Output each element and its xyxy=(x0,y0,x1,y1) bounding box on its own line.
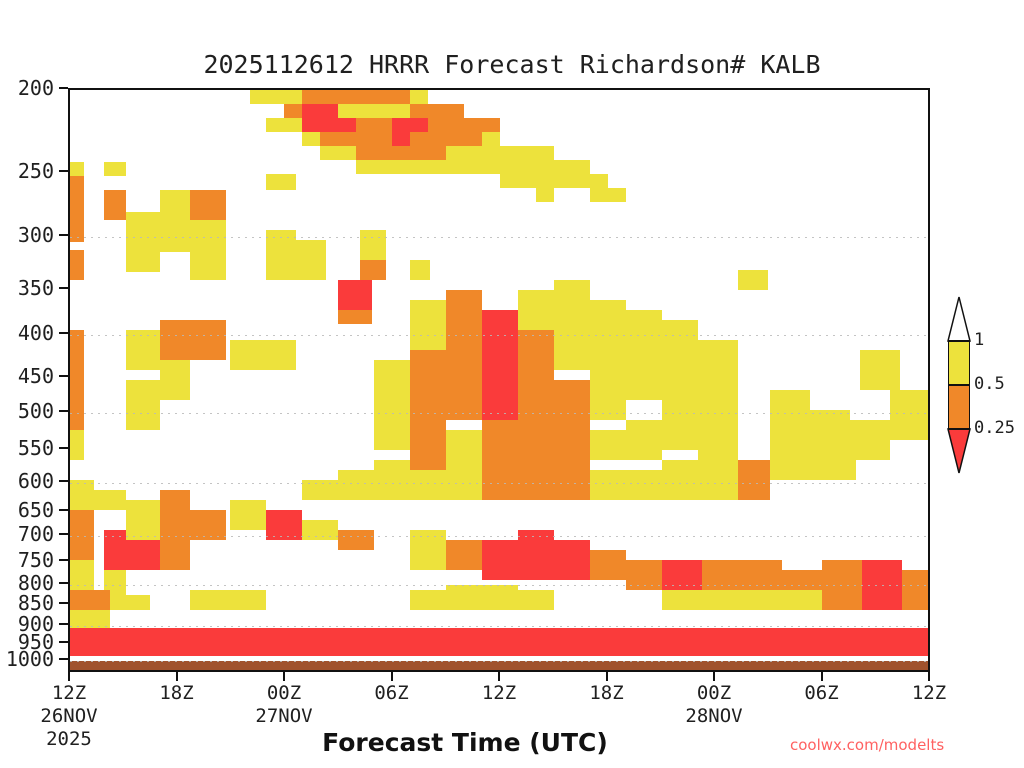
heatmap-cell xyxy=(302,132,320,146)
y-tick-mark xyxy=(59,509,68,511)
gridline xyxy=(70,483,928,484)
gridline xyxy=(70,585,928,586)
x-tick-mark xyxy=(606,672,608,681)
heatmap-cell xyxy=(500,146,518,160)
heatmap-cell xyxy=(338,310,372,324)
heatmap-cell xyxy=(518,160,536,174)
heatmap-cell xyxy=(464,118,482,132)
heatmap-cell xyxy=(70,590,110,610)
heatmap-cell xyxy=(770,390,810,440)
colorbar-segment[interactable] xyxy=(948,384,970,428)
heatmap-cell xyxy=(536,174,554,188)
x-tick-mark xyxy=(176,672,178,681)
heatmap-cell xyxy=(554,460,590,500)
heatmap-cell xyxy=(536,146,554,160)
heatmap-cell xyxy=(320,90,338,104)
y-tick-label: 1000 xyxy=(0,647,54,671)
heatmap-cell xyxy=(356,146,374,160)
heatmap-cell xyxy=(126,500,160,540)
chart-title: 2025112612 HRRR Forecast Richardson# KAL… xyxy=(0,50,1024,79)
heatmap-cell xyxy=(284,90,302,104)
heatmap-cell xyxy=(296,240,326,280)
y-tick-mark xyxy=(59,87,68,89)
heatmap-cell xyxy=(608,188,626,202)
heatmap-cell xyxy=(428,104,446,118)
heatmap-cell xyxy=(554,174,572,188)
y-tick-mark xyxy=(59,234,68,236)
colorbar-tick xyxy=(948,340,970,342)
heatmap-cell xyxy=(266,174,296,190)
colorbar-label: 1 xyxy=(974,330,984,350)
heatmap-cell xyxy=(482,460,518,500)
heatmap-cell xyxy=(320,132,338,146)
heatmap-cell xyxy=(190,190,226,220)
heatmap-cell xyxy=(482,390,518,420)
heatmap-cell xyxy=(374,132,392,146)
heatmap-cell xyxy=(70,642,930,656)
heatmap-cell xyxy=(518,530,554,580)
heatmap-cell xyxy=(230,500,266,530)
heatmap-cell xyxy=(822,585,862,610)
heatmap-cell xyxy=(464,146,482,160)
heatmap-cell xyxy=(160,490,190,540)
heatmap-cell xyxy=(518,146,536,160)
gridline xyxy=(70,335,928,336)
heatmap-cell xyxy=(554,160,572,174)
heatmap-cell xyxy=(160,540,190,570)
heatmap-cell xyxy=(810,450,856,480)
heatmap-cell xyxy=(446,430,482,470)
heatmap-cell xyxy=(230,340,266,370)
x-tick-label: 12Z 26NOV 2025 xyxy=(9,682,129,751)
heatmap-cell xyxy=(590,350,626,390)
heatmap-cell xyxy=(94,490,126,510)
heatmap-cell xyxy=(698,390,738,430)
heatmap-cell xyxy=(302,90,320,104)
heatmap-cell xyxy=(626,360,662,400)
heatmap-cell xyxy=(126,330,160,370)
heatmap-cell xyxy=(126,212,160,272)
y-tick-mark xyxy=(59,641,68,643)
colorbar-bottom-cap xyxy=(946,428,972,474)
heatmap-cell xyxy=(482,132,500,146)
gridline xyxy=(70,536,928,537)
heatmap-cell xyxy=(446,350,482,390)
heatmap-cell xyxy=(190,590,230,610)
colorbar[interactable]: 10.50.25 xyxy=(946,296,1024,476)
heatmap-cell xyxy=(374,104,392,118)
heatmap-cell xyxy=(410,390,446,430)
heatmap-cell xyxy=(284,118,302,132)
heatmap-cell xyxy=(902,585,930,610)
heatmap-cell xyxy=(554,330,590,370)
heatmap-cell xyxy=(742,590,782,610)
heatmap-cell xyxy=(850,420,890,460)
heatmap-cell xyxy=(446,585,482,610)
heatmap-cell xyxy=(70,176,84,202)
heatmap-cells xyxy=(70,90,928,670)
heatmap-cell xyxy=(446,540,482,570)
heatmap-cell xyxy=(70,250,84,280)
heatmap-cell xyxy=(356,132,374,146)
heatmap-cell xyxy=(160,212,190,252)
heatmap-cell xyxy=(410,350,446,390)
heatmap-cell xyxy=(428,160,446,174)
y-tick-label: 350 xyxy=(0,276,54,300)
heatmap-cell xyxy=(266,340,296,370)
heatmap-cell xyxy=(702,590,742,610)
heatmap-cell xyxy=(338,530,374,550)
heatmap-cell xyxy=(590,188,608,202)
gridline xyxy=(70,661,928,662)
y-tick-mark xyxy=(59,447,68,449)
heatmap-cell xyxy=(410,260,430,280)
y-tick-label: 750 xyxy=(0,548,54,572)
heatmap-cell xyxy=(482,350,518,390)
x-tick-mark xyxy=(928,672,930,681)
heatmap-cell xyxy=(770,440,810,480)
heatmap-cell xyxy=(572,160,590,174)
heatmap-cell xyxy=(482,540,518,580)
heatmap-cell xyxy=(392,104,410,118)
heatmap-cell xyxy=(446,390,482,420)
heatmap-cell xyxy=(518,590,554,610)
y-tick-mark xyxy=(59,602,68,604)
heatmap-cell xyxy=(518,290,554,330)
heatmap-cell xyxy=(428,146,446,160)
x-tick-label: 00Z 27NOV xyxy=(224,682,344,728)
heatmap-cell xyxy=(338,90,356,104)
x-tick-mark xyxy=(821,672,823,681)
heatmap-cell xyxy=(554,280,590,330)
plot-area xyxy=(68,88,930,672)
y-tick-mark xyxy=(59,332,68,334)
heatmap-cell xyxy=(410,630,930,642)
x-tick-label: 12Z xyxy=(439,682,559,705)
heatmap-cell xyxy=(104,190,126,220)
heatmap-cell xyxy=(356,104,374,118)
heatmap-cell xyxy=(126,380,160,430)
heatmap-cell xyxy=(662,420,698,450)
heatmap-cell xyxy=(338,132,356,146)
heatmap-cell xyxy=(160,320,190,360)
heatmap-cell xyxy=(410,132,428,146)
heatmap-cell xyxy=(70,330,84,390)
heatmap-cell xyxy=(482,585,518,610)
x-tick-label: 06Z xyxy=(332,682,452,705)
heatmap-cell xyxy=(374,160,392,174)
heatmap-cell xyxy=(428,118,446,132)
heatmap-cell xyxy=(410,104,428,118)
x-tick-label: 06Z xyxy=(762,682,882,705)
x-tick-label: 12Z xyxy=(869,682,989,705)
heatmap-cell xyxy=(392,160,410,174)
heatmap-cell xyxy=(320,104,338,118)
heatmap-cell xyxy=(410,590,446,610)
heatmap-cell xyxy=(738,270,768,290)
x-tick-mark xyxy=(68,672,70,681)
heatmap-cell xyxy=(392,90,410,104)
heatmap-cell xyxy=(410,90,428,104)
heatmap-cell xyxy=(338,280,372,310)
heatmap-cell xyxy=(518,390,554,420)
heatmap-cell xyxy=(890,390,930,440)
heatmap-cell xyxy=(590,174,608,188)
y-tick-label: 300 xyxy=(0,223,54,247)
heatmap-cell xyxy=(266,118,284,132)
heatmap-cell xyxy=(302,118,320,132)
heatmap-cell xyxy=(338,118,356,132)
heatmap-cell xyxy=(360,260,386,280)
heatmap-cell xyxy=(862,585,902,610)
heatmap-cell xyxy=(482,420,518,460)
colorbar-tick xyxy=(948,384,970,386)
heatmap-cell xyxy=(392,132,410,146)
heatmap-cell xyxy=(590,430,626,460)
heatmap-cell xyxy=(284,104,302,118)
y-tick-label: 500 xyxy=(0,399,54,423)
heatmap-cell xyxy=(190,320,226,360)
y-tick-mark xyxy=(59,533,68,535)
heatmap-cell xyxy=(482,310,518,350)
heatmap-cell xyxy=(536,160,554,174)
heatmap-cell xyxy=(698,430,738,500)
heatmap-cell xyxy=(392,146,410,160)
heatmap-cell xyxy=(428,132,446,146)
x-tick-mark xyxy=(391,672,393,681)
y-tick-mark xyxy=(59,170,68,172)
heatmap-cell xyxy=(70,480,94,510)
heatmap-cell xyxy=(662,320,698,370)
y-tick-label: 650 xyxy=(0,498,54,522)
heatmap-cell xyxy=(374,410,410,450)
heatmap-cell xyxy=(338,470,374,500)
y-tick-label: 600 xyxy=(0,469,54,493)
heatmap-cell xyxy=(110,595,150,610)
y-tick-label: 400 xyxy=(0,321,54,345)
heatmap-cell xyxy=(518,350,554,390)
y-tick-label: 200 xyxy=(0,76,54,100)
heatmap-cell xyxy=(446,118,464,132)
heatmap-cell xyxy=(320,118,338,132)
heatmap-cell xyxy=(320,146,338,160)
heatmap-cell xyxy=(446,146,464,160)
heatmap-cell xyxy=(266,90,284,104)
heatmap-cell xyxy=(410,430,446,470)
x-tick-label: 18Z xyxy=(117,682,237,705)
heatmap-cell xyxy=(410,146,428,160)
heatmap-cell xyxy=(500,160,518,174)
heatmap-cell xyxy=(698,340,738,390)
x-tick-label: 18Z xyxy=(547,682,667,705)
x-tick-mark xyxy=(498,672,500,681)
heatmap-cell xyxy=(70,510,94,560)
heatmap-cell xyxy=(374,118,392,132)
heatmap-cell xyxy=(590,300,626,350)
heatmap-cell xyxy=(374,460,410,500)
heatmap-cell xyxy=(446,160,464,174)
heatmap-cell xyxy=(230,590,266,610)
colorbar-label: 0.25 xyxy=(974,418,1015,438)
heatmap-cell xyxy=(104,162,126,176)
heatmap-cell xyxy=(590,550,626,580)
heatmap-cell xyxy=(70,430,84,460)
heatmap-cell xyxy=(810,410,850,450)
heatmap-cell xyxy=(464,160,482,174)
heatmap-cell xyxy=(782,590,822,610)
colorbar-label: 0.5 xyxy=(974,374,1005,394)
heatmap-cell xyxy=(536,188,554,202)
heatmap-cell xyxy=(338,104,356,118)
heatmap-cell xyxy=(302,104,320,118)
heatmap-cell xyxy=(70,202,84,242)
heatmap-cell xyxy=(626,420,662,460)
heatmap-cell xyxy=(70,390,84,430)
heatmap-cell xyxy=(410,118,428,132)
y-tick-label: 250 xyxy=(0,159,54,183)
y-tick-mark xyxy=(59,658,68,660)
heatmap-cell xyxy=(590,470,626,500)
gridline xyxy=(70,413,928,414)
heatmap-cell xyxy=(518,460,554,500)
heatmap-cell xyxy=(626,470,662,500)
heatmap-cell xyxy=(662,590,702,610)
y-tick-mark xyxy=(59,410,68,412)
heatmap-cell xyxy=(374,90,392,104)
heatmap-cell xyxy=(662,460,698,500)
heatmap-cell xyxy=(572,174,590,188)
heatmap-cell xyxy=(160,190,190,212)
heatmap-cell xyxy=(464,132,482,146)
watermark-link[interactable]: coolwx.com/modelts xyxy=(790,736,1020,754)
heatmap-cell xyxy=(482,118,500,132)
heatmap-cell xyxy=(302,520,338,540)
colorbar-tick xyxy=(948,428,970,430)
heatmap-cell xyxy=(446,470,482,500)
heatmap-cell xyxy=(518,420,554,460)
heatmap-cell xyxy=(392,118,410,132)
heatmap-cell xyxy=(374,360,410,410)
y-tick-mark xyxy=(59,287,68,289)
y-tick-label: 700 xyxy=(0,522,54,546)
y-tick-label: 450 xyxy=(0,364,54,388)
y-tick-mark xyxy=(59,375,68,377)
x-tick-mark xyxy=(713,672,715,681)
heatmap-cell xyxy=(160,360,190,400)
heatmap-cell xyxy=(374,146,392,160)
heatmap-cell xyxy=(446,132,464,146)
heatmap-cell xyxy=(446,290,482,350)
heatmap-cell xyxy=(518,174,536,188)
heatmap-cell xyxy=(500,174,518,188)
heatmap-cell xyxy=(554,540,590,580)
colorbar-segment[interactable] xyxy=(948,340,970,384)
heatmap-cell xyxy=(338,146,356,160)
heatmap-cell xyxy=(70,162,84,176)
heatmap-cell xyxy=(356,160,374,174)
y-tick-label: 550 xyxy=(0,436,54,460)
heatmap-cell xyxy=(356,118,374,132)
heatmap-cell xyxy=(860,350,900,390)
heatmap-cell xyxy=(360,230,386,260)
heatmap-cell xyxy=(482,160,500,174)
colorbar-top-cap xyxy=(946,296,972,342)
terrain-fill xyxy=(70,661,928,672)
x-axis-title: Forecast Time (UTC) xyxy=(250,728,680,757)
x-tick-mark xyxy=(283,672,285,681)
y-tick-mark xyxy=(59,480,68,482)
heatmap-cell xyxy=(554,420,590,460)
heatmap-cell xyxy=(356,90,374,104)
heatmap-cell xyxy=(410,160,428,174)
heatmap-cell xyxy=(590,390,626,420)
heatmap-cell xyxy=(554,380,590,420)
x-tick-label: 00Z 28NOV xyxy=(654,682,774,728)
y-tick-mark xyxy=(59,582,68,584)
heatmap-cell xyxy=(410,470,446,500)
heatmap-cell xyxy=(126,540,160,570)
y-tick-mark xyxy=(59,623,68,625)
gridline xyxy=(70,626,928,627)
heatmap-cell xyxy=(782,570,822,590)
heatmap-cell xyxy=(410,300,446,350)
heatmap-cell xyxy=(446,104,464,118)
y-tick-mark xyxy=(59,559,68,561)
gridline xyxy=(70,237,928,238)
heatmap-cell xyxy=(482,146,500,160)
